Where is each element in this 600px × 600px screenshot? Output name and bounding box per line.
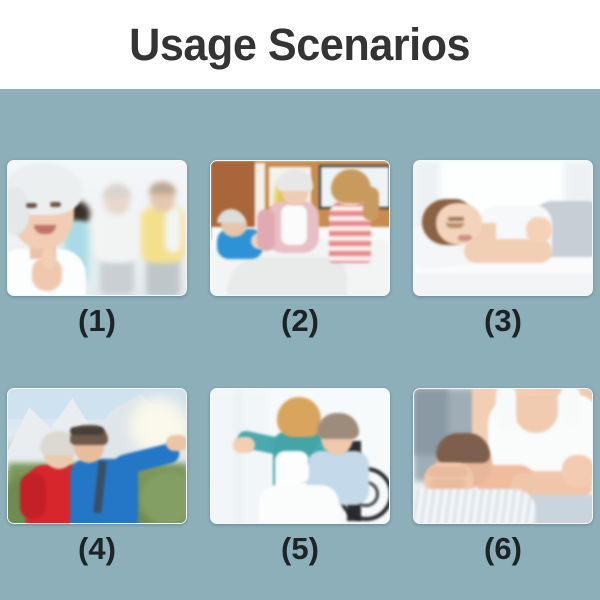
scenario-image-1[interactable] [7,160,187,296]
woman-sleeping-on-pillow-photo [414,161,592,295]
nurse-with-woman-in-wheelchair-photo [211,389,389,523]
usage-scenarios-page: Usage Scenarios (1) [0,0,600,600]
mother-holding-baby-photo [414,389,592,523]
scenario-image-3[interactable] [413,160,593,296]
scenario-item-4[interactable]: (4) [7,388,187,564]
scenario-caption-4: (4) [78,533,116,564]
family-visiting-elderly-man-in-bed-photo [211,161,389,295]
scenario-caption-5: (5) [281,533,319,564]
senior-woman-thumbs-up-group-exercise-photo [8,161,186,295]
scenario-item-2[interactable]: (2) [210,160,390,336]
scenario-image-6[interactable] [413,388,593,524]
scenario-item-6[interactable]: (6) [413,388,593,564]
scenario-caption-2: (2) [281,305,319,336]
scenario-gallery: (1) (2) [0,89,600,600]
senior-couple-hiking-mountains-photo [8,389,186,523]
scenario-caption-1: (1) [78,305,116,336]
gallery-row-2: (4) (5) [7,388,593,564]
scenario-caption-3: (3) [484,305,522,336]
scenario-item-5[interactable]: (5) [210,388,390,564]
scenario-caption-6: (6) [484,533,522,564]
header-banner: Usage Scenarios [0,0,600,89]
page-title: Usage Scenarios [130,22,471,67]
scenario-image-5[interactable] [210,388,390,524]
scenario-item-1[interactable]: (1) [7,160,187,336]
scenario-item-3[interactable]: (3) [413,160,593,336]
gallery-row-1: (1) (2) [7,160,593,336]
scenario-image-2[interactable] [210,160,390,296]
scenario-image-4[interactable] [7,388,187,524]
